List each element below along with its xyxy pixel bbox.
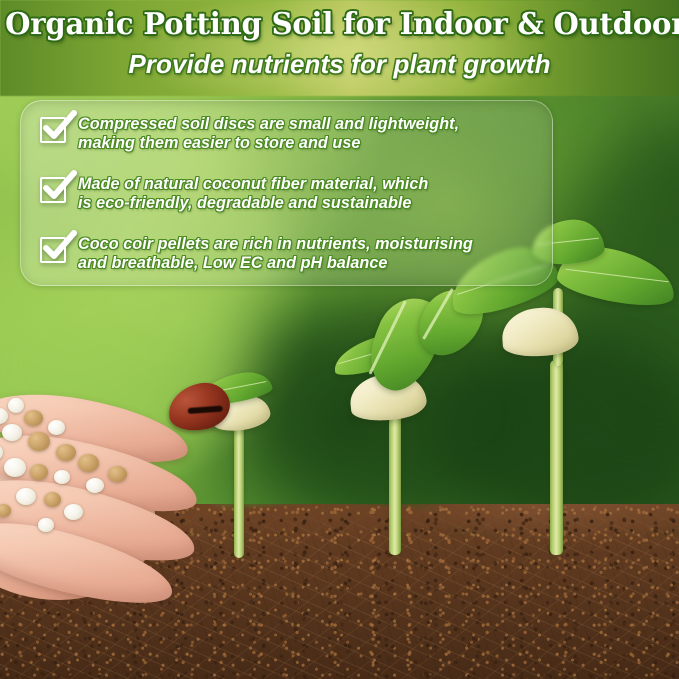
checkbox-checked-icon (40, 117, 66, 143)
product-banner: Compressed soil discs are small and ligh… (0, 0, 679, 679)
pellet (16, 488, 36, 505)
page-title: Organic Potting Soil for Indoor & Outdoo… (5, 6, 674, 41)
seedling-3-cotyledon (500, 305, 579, 358)
feature-text: Made of natural coconut fiber material, … (78, 173, 428, 212)
hand-with-pellets (0, 392, 240, 622)
checkmark-icon (43, 172, 77, 202)
seedling-3-stem (550, 360, 563, 555)
feature-text: Coco coir pellets are rich in nutrients,… (78, 233, 473, 272)
checkmark-icon (43, 112, 77, 142)
feature-list-panel: Compressed soil discs are small and ligh… (20, 100, 553, 286)
feature-item: Made of natural coconut fiber material, … (33, 173, 538, 233)
feature-item: Coco coir pellets are rich in nutrients,… (33, 233, 538, 293)
pellet (2, 424, 22, 441)
checkmark-icon (43, 232, 77, 262)
pellet (8, 398, 24, 413)
pellet (78, 454, 99, 472)
pellet (54, 470, 70, 484)
pellet (64, 504, 83, 520)
seedling-3 (440, 250, 679, 555)
pellet (24, 410, 43, 426)
page-subtitle: Provide nutrients for plant growth (0, 49, 679, 80)
pellet (38, 518, 54, 532)
pellet (30, 464, 48, 480)
pellet (56, 444, 76, 461)
checkbox-checked-icon (40, 177, 66, 203)
feature-text: Compressed soil discs are small and ligh… (78, 113, 459, 152)
pellet (48, 420, 65, 435)
seedling-2-stem (389, 410, 401, 555)
checkbox-checked-icon (40, 237, 66, 263)
pellet (86, 478, 104, 493)
pellet (28, 432, 50, 451)
pellet (44, 492, 61, 507)
pellet (108, 466, 127, 482)
pellet (4, 458, 26, 477)
feature-item: Compressed soil discs are small and ligh… (33, 113, 538, 173)
